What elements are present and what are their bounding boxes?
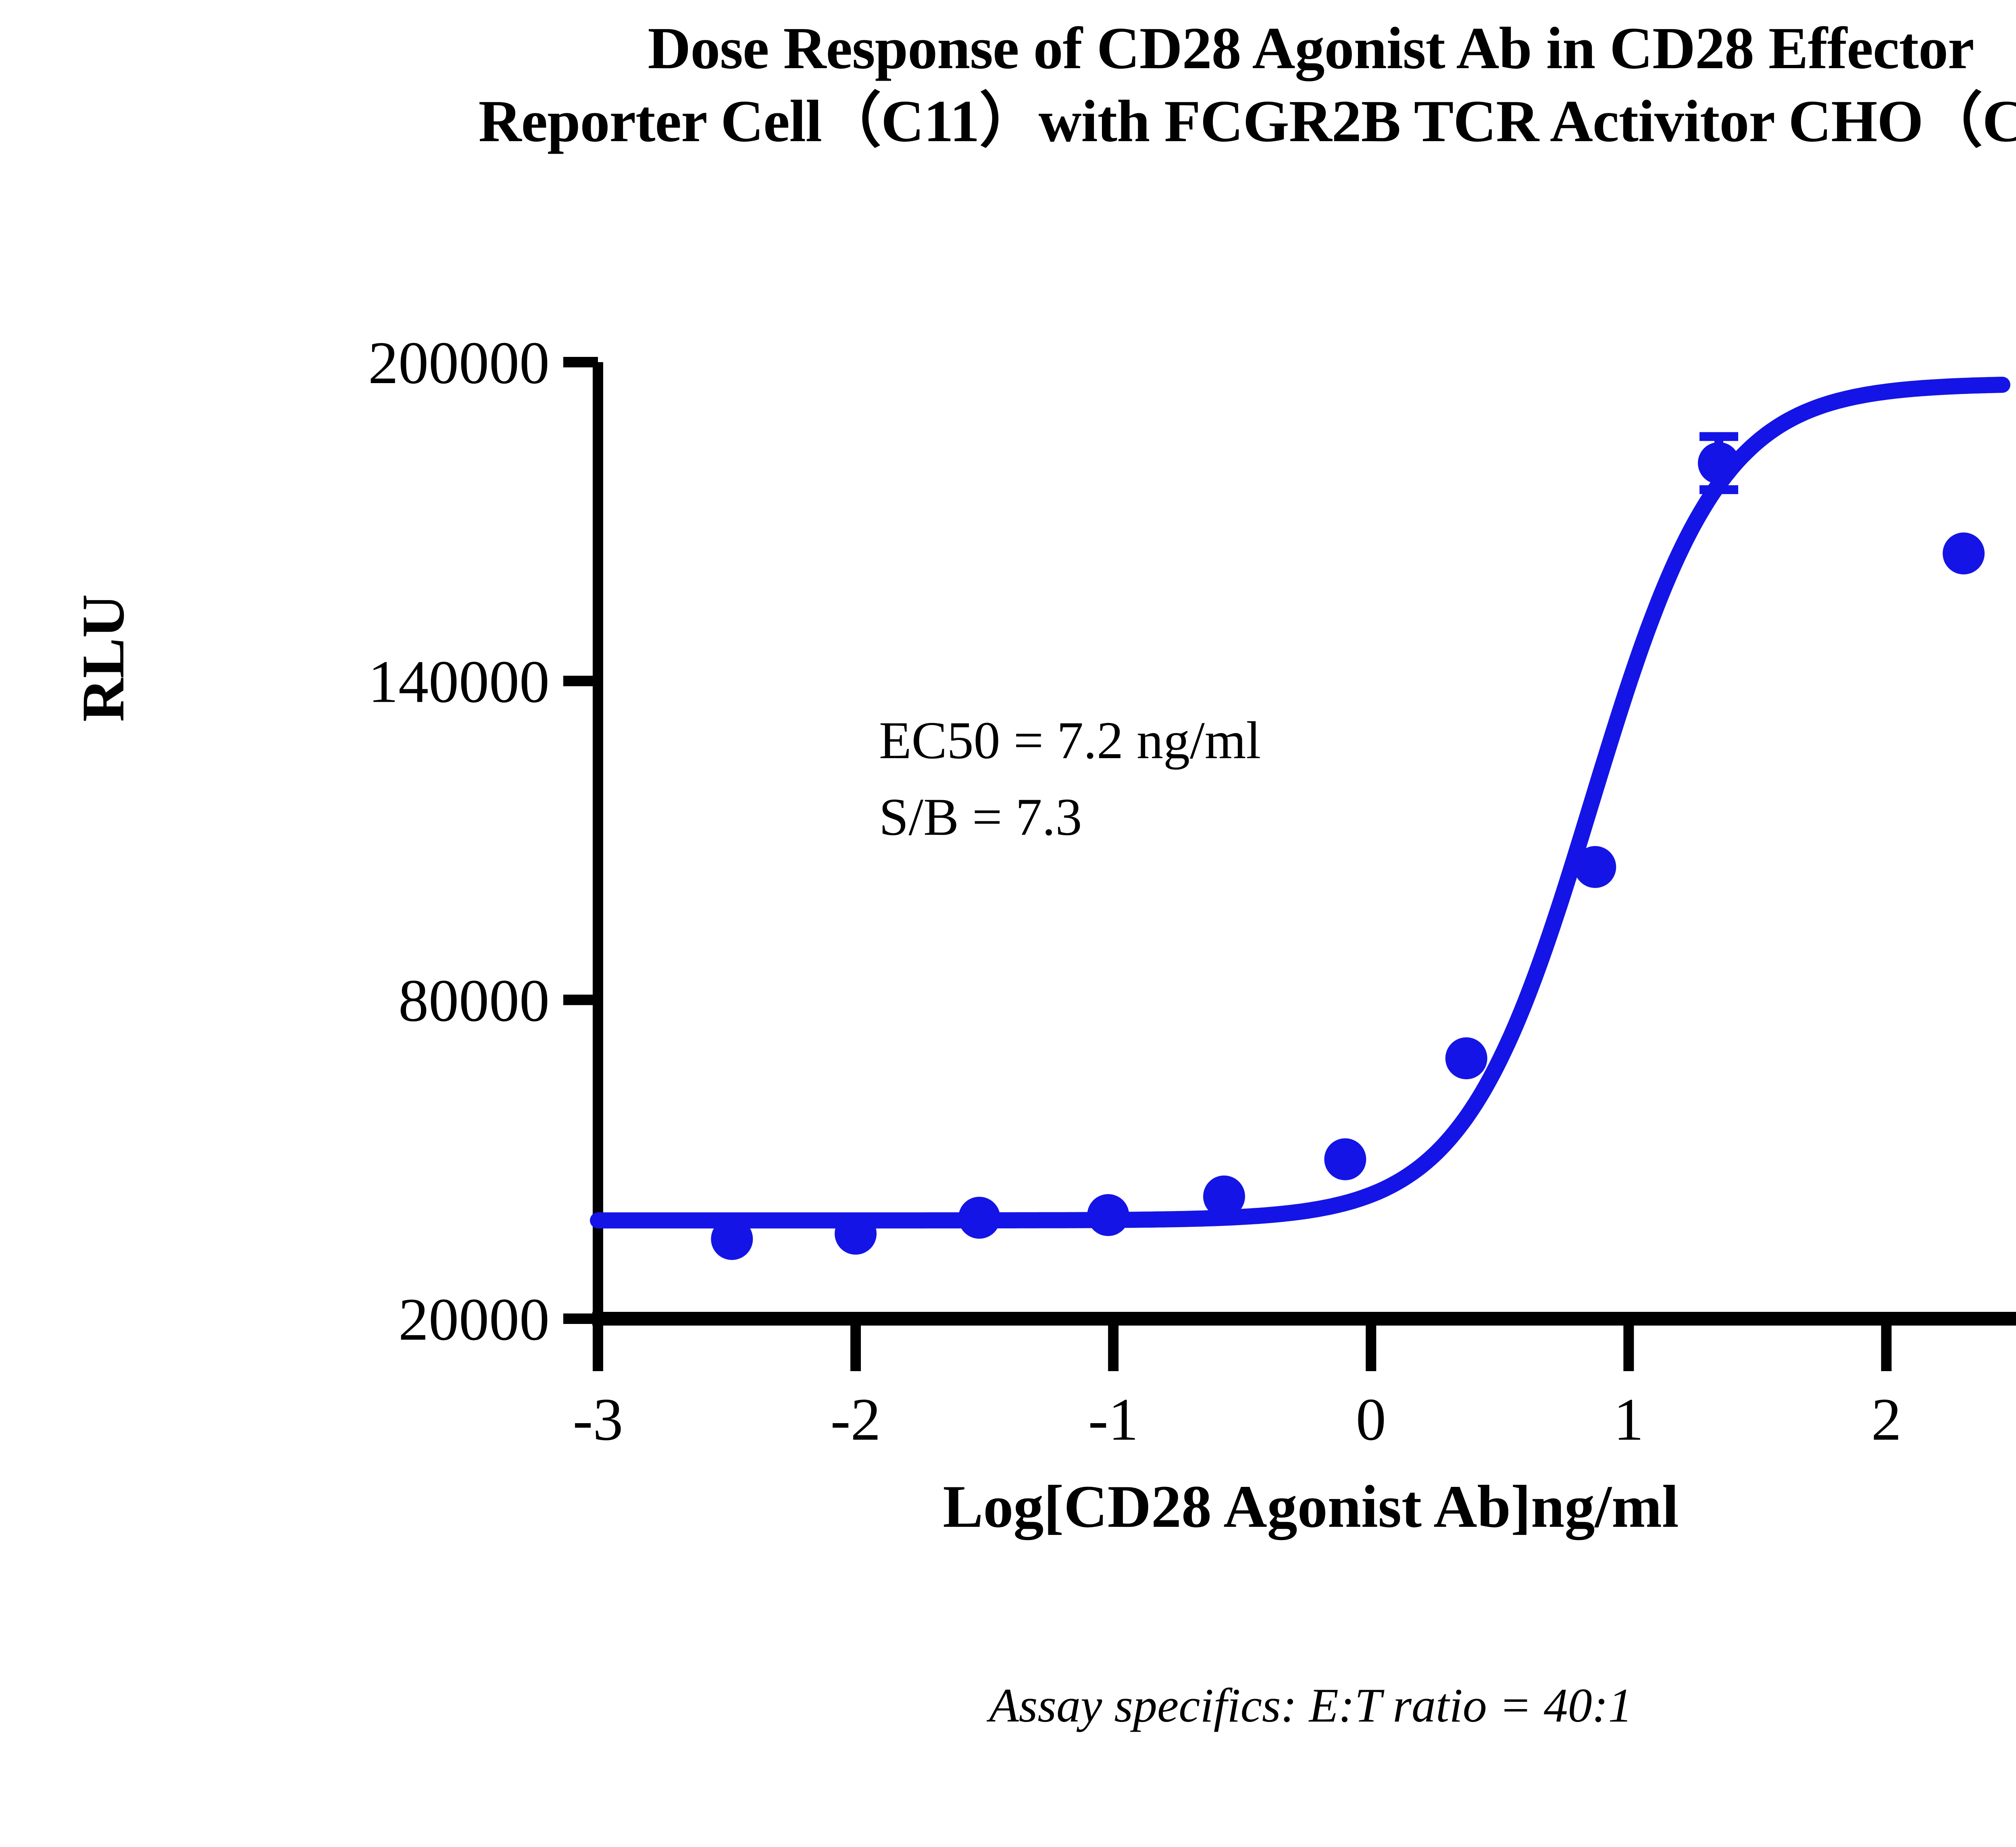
y-tick-label: 80000	[398, 967, 550, 1034]
ec50-annotation: EC50 = 7.2 ng/ml	[879, 711, 1261, 770]
data-point[interactable]	[1574, 846, 1616, 888]
data-point[interactable]	[958, 1197, 1000, 1239]
x-tick-label: 2	[1871, 1386, 1901, 1453]
data-point[interactable]	[835, 1213, 877, 1255]
data-point[interactable]	[1203, 1176, 1245, 1217]
x-tick-label: -2	[831, 1386, 881, 1453]
plot-area: 2000080000140000200000-3-2-1012EC50 = 7.…	[0, 0, 2016, 1847]
data-point[interactable]	[1698, 442, 1740, 484]
x-tick-label: 1	[1614, 1386, 1644, 1453]
fit-curve	[598, 385, 2002, 1220]
data-point[interactable]	[1324, 1138, 1366, 1180]
y-tick-label: 140000	[368, 648, 550, 715]
y-tick-label: 20000	[398, 1286, 550, 1353]
x-tick-label: -3	[573, 1386, 623, 1453]
x-tick-label: 0	[1356, 1386, 1386, 1453]
data-point[interactable]	[1087, 1194, 1129, 1236]
y-tick-label: 200000	[368, 329, 550, 396]
plot-svg: 2000080000140000200000-3-2-1012EC50 = 7.…	[0, 0, 2016, 1847]
figure-root: Dose Response of CD28 Agonist Ab in CD28…	[0, 0, 2016, 1847]
data-point[interactable]	[1943, 532, 1985, 574]
data-point[interactable]	[711, 1218, 753, 1260]
sb-annotation: S/B = 7.3	[879, 787, 1082, 846]
x-tick-label: -1	[1088, 1386, 1139, 1453]
data-point[interactable]	[1445, 1037, 1487, 1079]
